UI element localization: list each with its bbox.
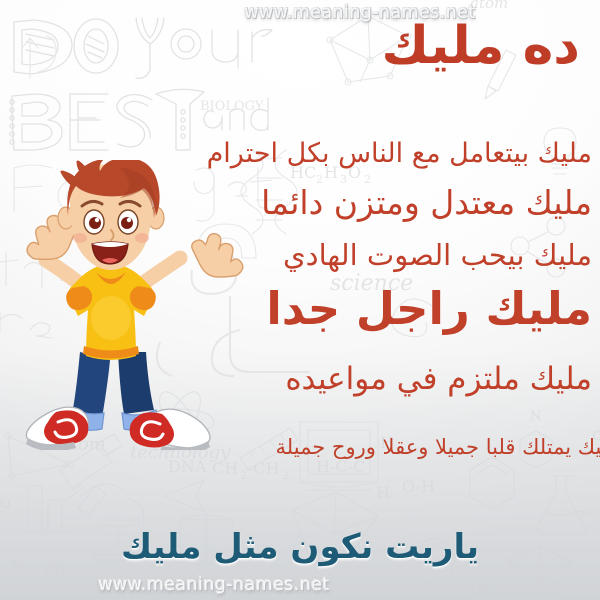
- page-title: ده مليك: [381, 20, 580, 72]
- watermark-bottom: www.meaning-names.net: [0, 575, 600, 595]
- cartoon-boy-illustration: [10, 160, 260, 450]
- footer-wish-line: ياريت نكون مثل مليك: [0, 530, 600, 564]
- svg-text:O: O: [0, 497, 11, 512]
- image-canvas: DNA CH2 -CH2 H-C-C H H O-H HC2 H3 O2 ato…: [0, 0, 600, 600]
- svg-text:H: H: [376, 483, 390, 502]
- svg-text:2: 2: [282, 469, 289, 482]
- trait-line-6: مليك يمتلك قلبا جميلا وعقلا وروح جميلة: [276, 437, 600, 458]
- svg-text:-CH: -CH: [248, 459, 280, 478]
- trait-line-4: مليك راجل جدا: [266, 286, 592, 331]
- svg-text:N: N: [530, 409, 541, 424]
- trait-line-1: مليك بيتعامل مع الناس بكل احترام: [207, 140, 592, 167]
- trait-line-5: مليك ملتزم في مواعيده: [285, 364, 592, 395]
- svg-text:H-C-C: H-C-C: [316, 457, 365, 476]
- svg-text:CH: CH: [212, 459, 238, 478]
- svg-text:O-H: O-H: [402, 477, 435, 496]
- trait-line-3: مليك بيحب الصوت الهادي: [283, 241, 592, 270]
- svg-text:DNA: DNA: [168, 457, 207, 476]
- trait-line-2: مليك معتدل ومتزن دائما: [261, 186, 592, 219]
- svg-text:2: 2: [240, 469, 247, 482]
- svg-text:BIOLOGY: BIOLOGY: [200, 99, 264, 114]
